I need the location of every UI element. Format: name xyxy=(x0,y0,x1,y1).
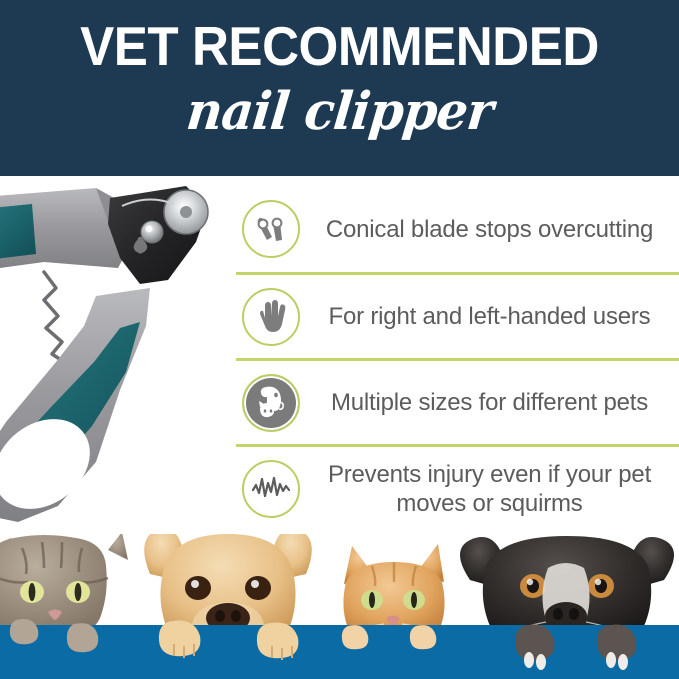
product-image xyxy=(0,176,236,546)
waveform-icon xyxy=(242,460,300,518)
header-banner: VET RECOMMENDED nail clipper xyxy=(0,0,679,176)
dog-cat-icon xyxy=(242,374,300,432)
feature-label: For right and left-handed users xyxy=(308,302,679,331)
pivot-rivet xyxy=(141,221,163,243)
blue-banner xyxy=(0,625,679,679)
feature-row: Prevents injury even if your pet moves o… xyxy=(236,444,679,530)
hand-icon xyxy=(242,288,300,346)
feature-row: Multiple sizes for different pets xyxy=(236,358,679,444)
feature-list: Conical blade stops overcutting For righ… xyxy=(236,186,679,534)
page-title: VET RECOMMENDED xyxy=(24,14,655,78)
feature-row: Conical blade stops overcutting xyxy=(236,186,679,272)
page-subtitle: nail clipper xyxy=(14,82,665,142)
nail-clipper-illustration xyxy=(0,176,236,546)
clipper-icon-glyph xyxy=(254,212,288,246)
product-infographic: VET RECOMMENDED nail clipper xyxy=(0,0,679,679)
clipper-upper-grip xyxy=(0,204,36,262)
blade-center xyxy=(180,206,192,218)
waveform-icon-glyph xyxy=(252,476,290,502)
hand-icon-glyph xyxy=(255,300,287,334)
feature-label: Multiple sizes for different pets xyxy=(308,388,679,417)
rivet-highlight xyxy=(146,226,153,233)
feature-label: Conical blade stops overcutting xyxy=(308,215,679,244)
pet-photo-strip xyxy=(0,534,679,679)
dog-cat-icon-glyph xyxy=(246,378,296,428)
feature-row: For right and left-handed users xyxy=(236,272,679,358)
feature-label: Prevents injury even if your pet moves o… xyxy=(308,460,679,518)
clipper-icon xyxy=(242,200,300,258)
